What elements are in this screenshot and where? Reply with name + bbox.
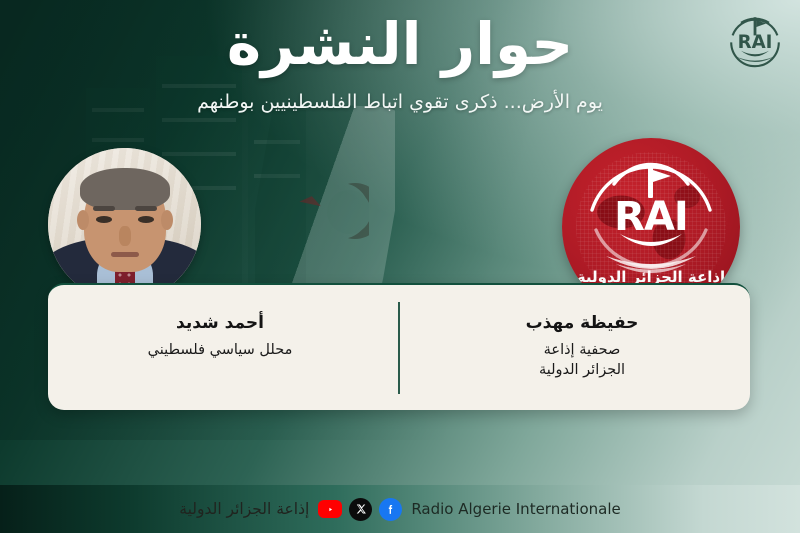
photo-hair — [80, 168, 170, 210]
page-title: حوار النشرة — [0, 14, 800, 74]
photo-mouth — [111, 252, 139, 257]
x-twitter-icon[interactable] — [349, 498, 372, 521]
guest-role-line2: الجزائر الدولية — [432, 361, 732, 381]
footer-bar: Radio Algerie Internationale إذاعة الجزا… — [0, 485, 800, 533]
photo-brow-left — [93, 206, 115, 211]
photo-brow-right — [135, 206, 157, 211]
photo-ear-left — [77, 210, 89, 230]
footer-arabic-label: إذاعة الجزائر الدولية — [179, 500, 309, 518]
svg-text:RAI: RAI — [614, 194, 688, 240]
guest-role-line1: صحفية إذاعة — [432, 341, 732, 361]
facebook-icon[interactable] — [379, 498, 402, 521]
guests-card: حفيظة مهذب صحفية إذاعة الجزائر الدولية أ… — [48, 283, 750, 410]
guest-info-right: حفيظة مهذب صحفية إذاعة الجزائر الدولية — [432, 313, 732, 380]
photo-ear-right — [161, 210, 173, 230]
photo-eye-right — [138, 216, 154, 223]
broadcast-graphic: RAI حوار النشرة يوم الأرض... ذكرى تقوي ا… — [0, 0, 800, 533]
guest-name: أحمد شديد — [70, 313, 370, 334]
guest-info-left: أحمد شديد محلل سياسي فلسطيني — [70, 313, 370, 361]
guest-role-line1: محلل سياسي فلسطيني — [70, 341, 370, 361]
footer-english-label: Radio Algerie Internationale — [411, 500, 620, 518]
guest-name: حفيظة مهذب — [432, 313, 732, 334]
social-links — [318, 498, 402, 521]
youtube-icon[interactable] — [318, 500, 342, 518]
card-divider — [398, 302, 400, 394]
page-subtitle: يوم الأرض... ذكرى تقوي اتباط الفلسطينيين… — [0, 90, 800, 116]
photo-eye-left — [96, 216, 112, 223]
guest-photo — [48, 148, 201, 301]
photo-nose — [119, 226, 131, 246]
